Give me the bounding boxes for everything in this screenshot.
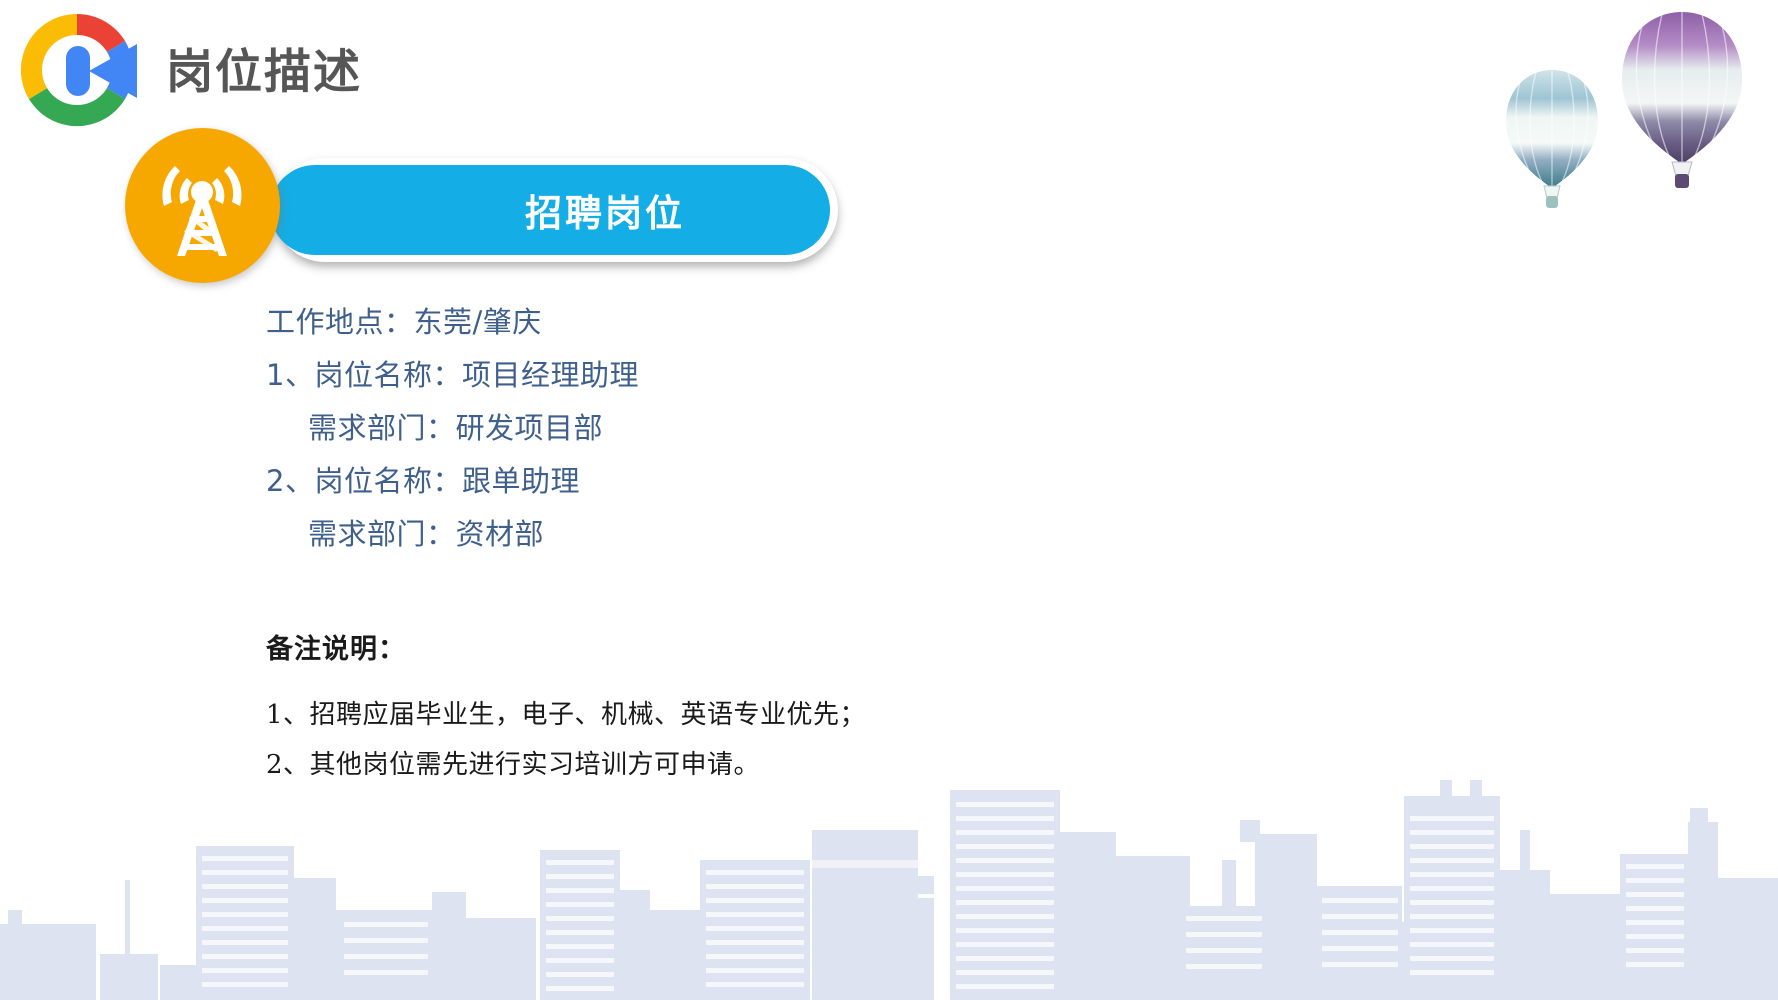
broadcast-tower-icon — [147, 152, 257, 260]
teal-hot-air-balloon — [1506, 70, 1598, 208]
job-info-line: 1、岗位名称：项目经理助理 — [266, 349, 1066, 402]
section-banner: 招聘岗位 — [125, 128, 725, 288]
banner-label: 招聘岗位 — [270, 165, 830, 255]
notes-title: 备注说明： — [266, 627, 1166, 666]
note-item: 1、招聘应届毕业生，电子、机械、英语专业优先； — [266, 690, 1166, 740]
job-info-line: 需求部门：资材部 — [266, 508, 1066, 561]
google-style-ring-logo — [13, 6, 141, 134]
page-title: 岗位描述 — [166, 33, 362, 102]
job-info-line: 工作地点：东莞/肇庆 — [266, 296, 1066, 349]
hot-air-balloons-decoration — [1480, 4, 1778, 234]
note-item: 2、其他岗位需先进行实习培训方可申请。 — [266, 740, 1166, 790]
slide-canvas: 岗位描述 招聘岗位 — [0, 0, 1778, 1000]
notes-section: 备注说明： 1、招聘应届毕业生，电子、机械、英语专业优先； 2、其他岗位需先进行… — [266, 627, 1166, 790]
job-info-list: 工作地点：东莞/肇庆 1、岗位名称：项目经理助理 需求部门：研发项目部 2、岗位… — [266, 296, 1066, 561]
job-info-line: 需求部门：研发项目部 — [266, 402, 1066, 455]
job-info-line: 2、岗位名称：跟单助理 — [266, 455, 1066, 508]
purple-hot-air-balloon — [1622, 12, 1742, 188]
